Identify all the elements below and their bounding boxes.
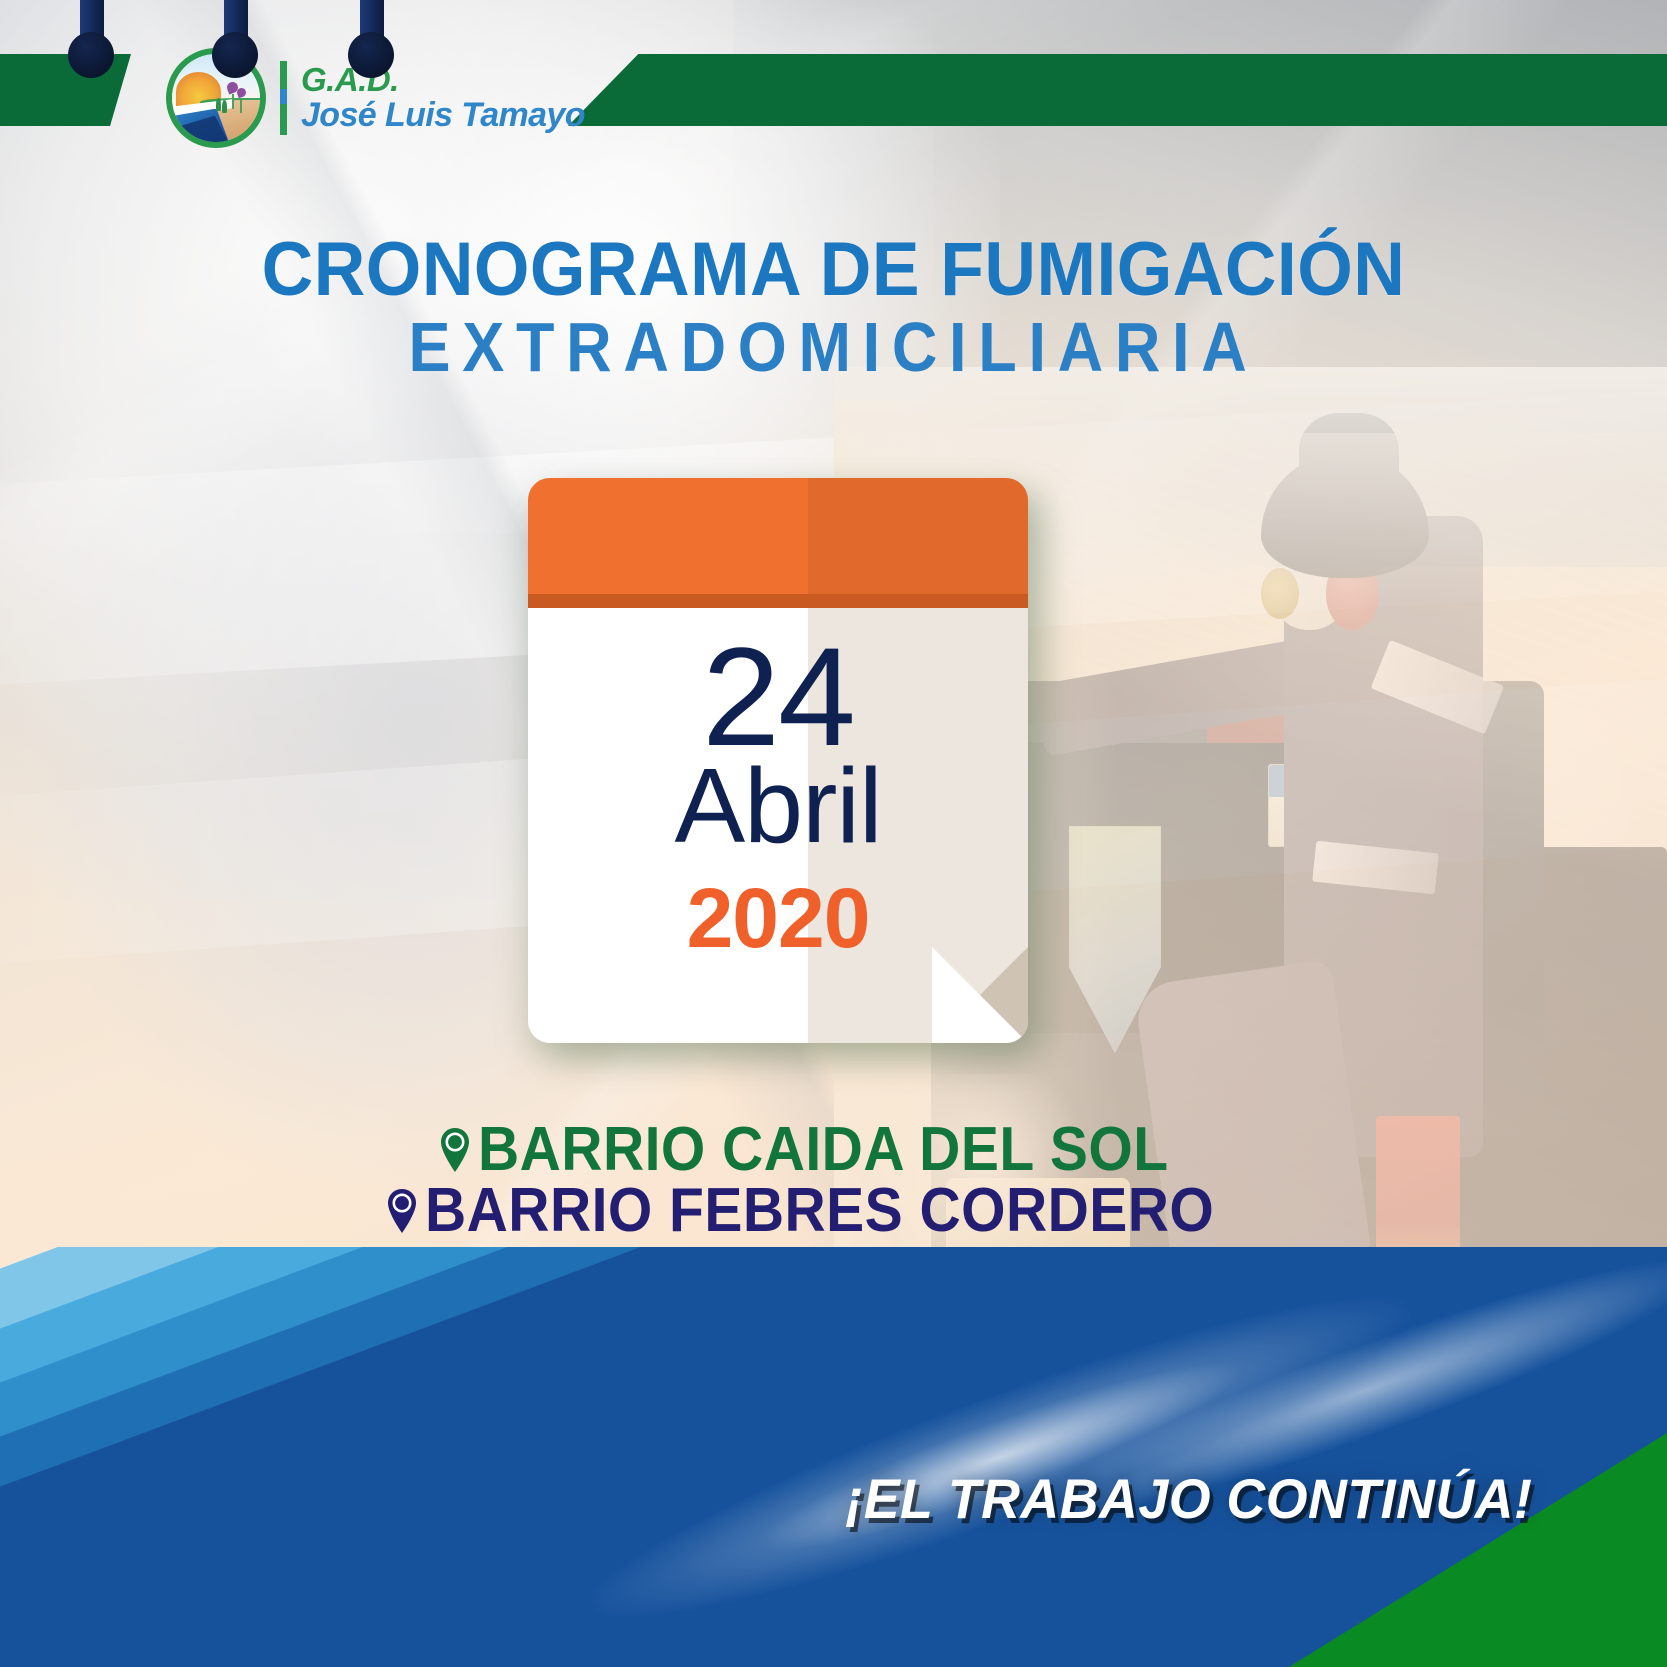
logo-divider-top (280, 61, 287, 89)
calendar-day: 24 (702, 630, 854, 764)
map-pin-icon (385, 1188, 419, 1234)
map-pin-icon (438, 1127, 472, 1173)
logo-divider-mid (280, 89, 287, 104)
ring-ball (212, 32, 258, 78)
title-line-2: EXTRADOMICILIARIA (83, 312, 1583, 382)
calendar-header-right (808, 478, 1028, 608)
barrio-name: BARRIO CAIDA DEL SOL (478, 1120, 1169, 1181)
calendar-year: 2020 (687, 876, 870, 960)
calendar-page-fold (932, 947, 1028, 1043)
list-item: BARRIO FEBRES CORDERO (385, 1181, 1283, 1242)
ring-ball (348, 32, 394, 78)
calendar-month: Abril (674, 758, 881, 856)
poster: G.A.D. José Luis Tamayo CRONOGRAMA DE FU… (0, 0, 1667, 1667)
logo-line-1: G.A.D. (301, 63, 585, 97)
calendar-header (528, 478, 1028, 608)
logo-divider-bottom (280, 104, 287, 135)
header-band-right (568, 54, 1667, 126)
title-line-1: CRONOGRAMA DE FUMIGACIÓN (50, 232, 1617, 308)
logo-divider (280, 61, 287, 135)
list-item: BARRIO CAIDA DEL SOL (438, 1120, 1229, 1181)
ring-ball (68, 32, 114, 78)
calendar-ring-1 (68, 0, 114, 129)
calendar-header-lip (528, 594, 1028, 608)
logo-text: G.A.D. José Luis Tamayo (301, 63, 585, 133)
footer-ribbon (0, 1247, 1667, 1667)
page-title: CRONOGRAMA DE FUMIGACIÓN EXTRADOMICILIAR… (0, 232, 1667, 382)
calendar-ring-3 (348, 0, 394, 129)
calendar-ring-2 (212, 0, 258, 129)
footer-slogan: ¡EL TRABAJO CONTINÚA! (846, 1466, 1533, 1531)
logo-line-2: José Luis Tamayo (301, 98, 585, 133)
calendar-card: 24 Abril 2020 (528, 478, 1028, 1043)
barrio-name: BARRIO FEBRES CORDERO (425, 1181, 1214, 1242)
